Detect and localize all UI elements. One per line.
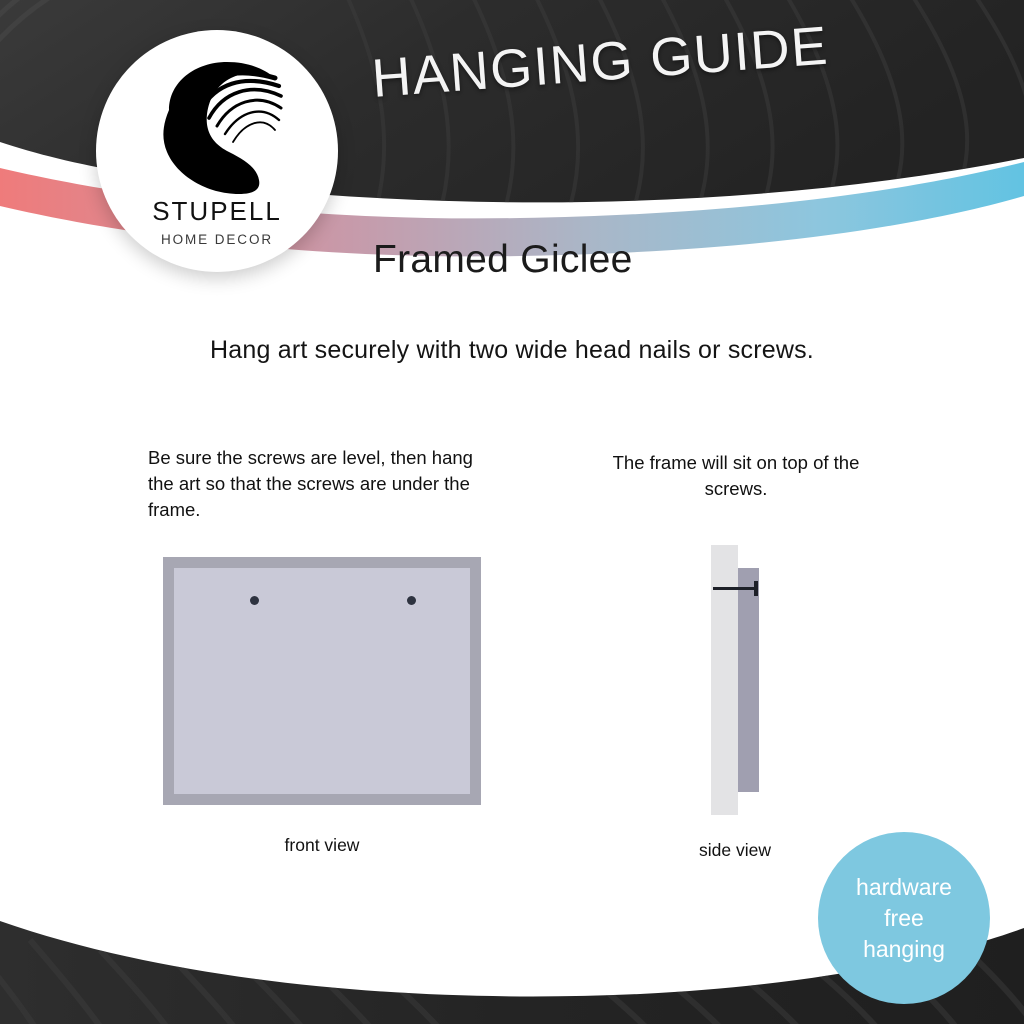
badge-line-1: hardware [856,872,952,903]
side-view-diagram [700,545,780,815]
side-view-column: The frame will sit on top of the screws. [592,450,880,502]
frame-mat [174,568,470,794]
front-view-column: Be sure the screws are level, then hang … [148,445,496,523]
side-view-label: side view [640,840,830,861]
nail-head-icon [754,581,758,596]
badge-line-2: free [884,903,924,934]
page-title: HANGING GUIDE [370,15,831,110]
screw-dot-right [407,596,416,605]
brand-logo-badge: STUPELL HOME DECOR [96,30,338,272]
brand-tagline: HOME DECOR [161,232,273,247]
hanging-guide-page: STUPELL HOME DECOR HANGING GUIDE Framed … [0,0,1024,1024]
front-view-frame-diagram [163,557,481,805]
badge-line-3: hanging [863,934,945,965]
product-name: Framed Giclee [373,238,633,282]
front-view-caption: Be sure the screws are level, then hang … [148,445,496,523]
frame-cross-section [738,568,759,792]
front-view-label: front view [163,835,481,856]
wall-cross-section [711,545,738,815]
hardware-free-badge: hardware free hanging [818,832,990,1004]
stupell-swoosh-icon [151,56,283,194]
screw-dot-left [250,596,259,605]
side-view-caption: The frame will sit on top of the screws. [592,450,880,502]
nail-icon [713,587,757,590]
lead-instruction: Hang art securely with two wide head nai… [0,336,1024,365]
brand-name: STUPELL [152,196,282,227]
